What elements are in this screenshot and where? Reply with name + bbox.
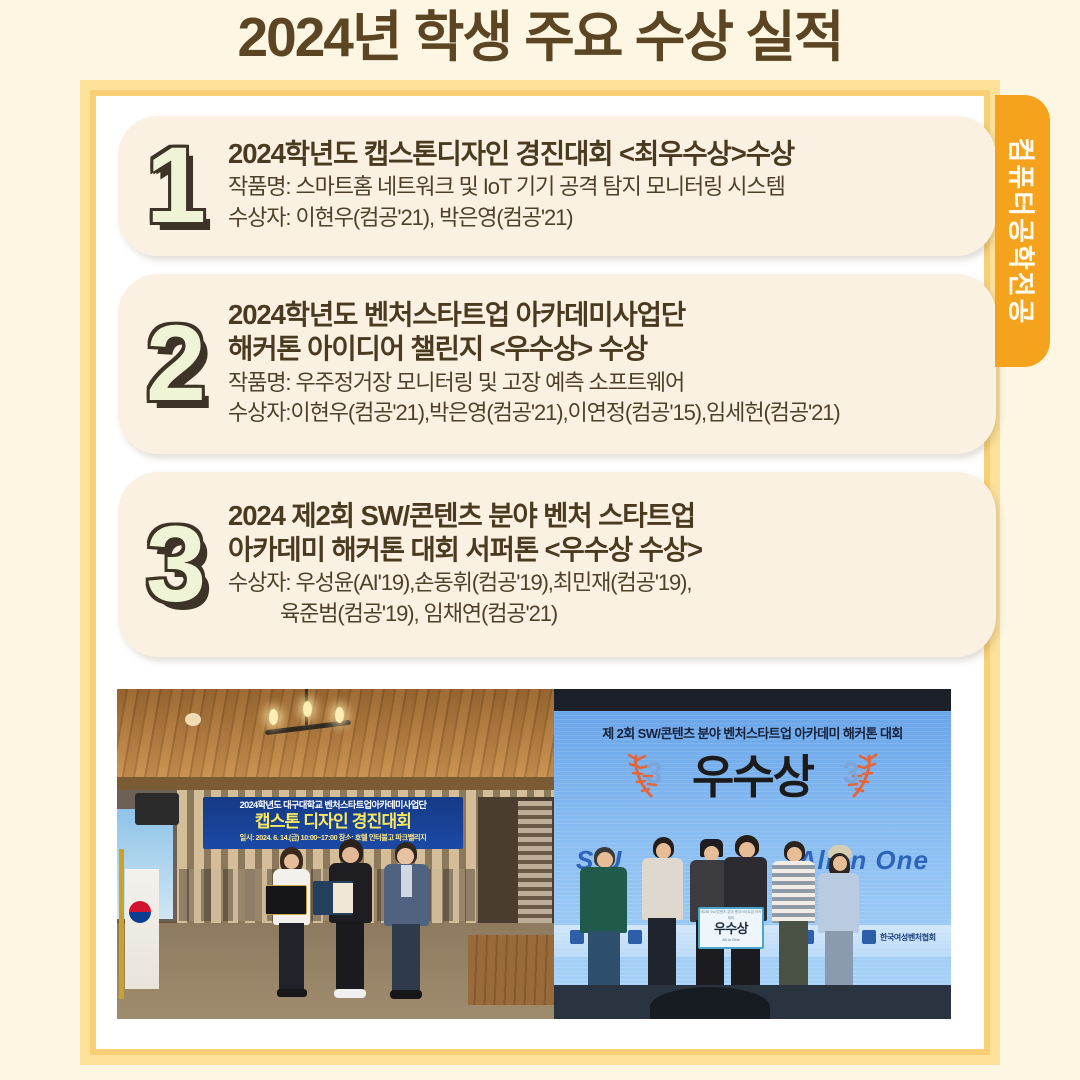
award-rank-number-2: 2 xyxy=(128,309,224,417)
award-heading-1-line-1: 2024학년도 캡스톤디자인 경진대회 <최우수상>수상 xyxy=(228,137,974,171)
person-torso xyxy=(818,873,859,933)
award-heading-3-line-1: 2024 제2회 SW/콘텐츠 분야 벤처 스타트업 xyxy=(228,499,974,533)
award-detail-2-line-2: 수상자:이현우(컴공'21),박은영(컴공'21),이연정(컴공'15),임세헌… xyxy=(228,399,974,428)
stage-person-6 xyxy=(816,845,862,995)
ceremony-banner-title: 캡스톤 디자인 경진대회 xyxy=(203,811,463,833)
person-legs xyxy=(825,931,853,993)
laurel-right-number: 3 xyxy=(823,757,879,791)
award-body-1: 2024학년도 캡스톤디자인 경진대회 <최우수상>수상 작품명: 스마트홈 네… xyxy=(224,137,974,232)
person-legs xyxy=(279,923,304,991)
poster-content-panel: 1 2024학년도 캡스톤디자인 경진대회 <최우수상>수상 작품명: 스마트홈… xyxy=(96,96,984,1049)
person-legs xyxy=(336,921,364,991)
award-card-2: 2 2024학년도 벤처스타트업 아카데미사업단 해커톤 아이디어 챌린지 <우… xyxy=(118,274,996,454)
photo-downlight xyxy=(185,713,201,726)
hackathon-award-row: 3 우수상 3 xyxy=(554,751,951,803)
certificate-paper xyxy=(333,883,353,913)
photo-ceiling-shading xyxy=(117,689,554,781)
photo-capstone-ceremony: 2024학년도 대구대학교 벤처스타트업아카데미사업단 캡스톤 디자인 경진대회… xyxy=(117,689,554,1019)
photo-korean-flag xyxy=(125,869,159,989)
chandelier-bulb xyxy=(269,709,278,725)
award-heading-2-line-1: 2024학년도 벤처스타트업 아카데미사업단 xyxy=(228,298,974,332)
award-certificate-board: 제2회 SW/콘텐츠 분야 벤처스타트업 아카데미 우수상 All in One xyxy=(698,907,764,949)
ceremony-banner-subtitle-top: 2024학년도 대구대학교 벤처스타트업아카데미사업단 xyxy=(203,799,463,811)
photo-wood-floor xyxy=(468,935,554,1005)
photo-ceiling-beam xyxy=(117,777,554,790)
laurel-left: 3 xyxy=(626,751,682,803)
award-detail-1-line-2: 수상자: 이현우(컴공'21), 박은영(컴공'21) xyxy=(228,204,974,233)
photo-strip: 2024학년도 대구대학교 벤처스타트업아카데미사업단 캡스톤 디자인 경진대회… xyxy=(117,689,951,1019)
person-face xyxy=(597,852,613,868)
laurel-left-number: 3 xyxy=(626,757,682,791)
board-team-name: All in One xyxy=(700,937,762,943)
page-title: 2024년 학생 주요 수상 실적 xyxy=(0,2,1080,72)
photo-flag-pole xyxy=(119,849,124,999)
award-detail-2-line-1: 작품명: 우주정거장 모니터링 및 고장 예측 소프트웨어 xyxy=(228,369,974,398)
chandelier-bulb xyxy=(335,707,344,723)
department-tab-label: 컴퓨터공학전공 xyxy=(1003,137,1042,325)
stage-person-2 xyxy=(640,837,686,995)
award-card-1: 1 2024학년도 캡스톤디자인 경진대회 <최우수상>수상 작품명: 스마트홈… xyxy=(118,116,996,256)
award-body-2: 2024학년도 벤처스타트업 아카데미사업단 해커톤 아이디어 챌린지 <우수상… xyxy=(224,298,974,427)
person-legs xyxy=(779,921,808,991)
photo-speaker xyxy=(135,793,179,825)
awards-list: 1 2024학년도 캡스톤디자인 경진대회 <최우수상>수상 작품명: 스마트홈… xyxy=(118,116,996,657)
photo-person-center xyxy=(325,841,375,1001)
person-legs xyxy=(588,931,620,993)
stage-person-1 xyxy=(578,847,630,997)
award-detail-1-line-1: 작품명: 스마트홈 네트워크 및 IoT 기기 공격 탐지 모니터링 시스템 xyxy=(228,173,974,202)
person-legs xyxy=(648,918,676,990)
person-torso xyxy=(772,861,815,923)
poster-frame: 1 2024학년도 캡스톤디자인 경진대회 <최우수상>수상 작품명: 스마트홈… xyxy=(80,80,1000,1065)
stage-person-5 xyxy=(770,841,818,995)
award-plaque xyxy=(265,885,307,915)
person-torso xyxy=(580,867,627,933)
board-top-text: 제2회 SW/콘텐츠 분야 벤처스타트업 아카데미 xyxy=(700,909,762,921)
award-rank-number-3: 3 xyxy=(128,510,224,618)
person-legs xyxy=(392,924,420,993)
foreground-audience-head xyxy=(650,987,770,1019)
hackathon-award-label: 우수상 xyxy=(692,754,813,800)
person-face xyxy=(342,847,359,863)
photo-person-right xyxy=(381,843,431,1001)
person-shoes xyxy=(390,990,422,999)
award-heading-3-line-2: 아카데미 해커톤 대회 서퍼톤 <우수상 수상> xyxy=(228,533,974,567)
person-face xyxy=(787,847,802,862)
person-face xyxy=(284,854,299,869)
award-rank-number-1: 1 xyxy=(128,131,224,239)
laurel-right: 3 xyxy=(823,751,879,803)
award-heading-2-line-2: 해커톤 아이디어 챌린지 <우수상> 수상 xyxy=(228,332,974,366)
chandelier-bulb xyxy=(303,701,312,717)
award-detail-3-line-1: 수상자: 우성윤(AI'19),손동휘(컴공'19),최민재(컴공'19), xyxy=(228,569,974,598)
hackathon-screen-title: 제 2회 SW/콘텐츠 분야 벤처스타트업 아카데미 해커톤 대회 xyxy=(554,723,951,742)
award-body-3: 2024 제2회 SW/콘텐츠 분야 벤처 스타트업 아카데미 해커톤 대회 서… xyxy=(224,499,974,628)
person-shirt xyxy=(401,865,412,897)
person-face xyxy=(704,846,719,861)
person-face xyxy=(656,843,671,859)
sponsor-logo-mark xyxy=(862,930,876,944)
photo-hackathon-stage: 제 2회 SW/콘텐츠 분야 벤처스타트업 아카데미 해커톤 대회 3 우수상 xyxy=(554,689,951,1019)
person-face xyxy=(397,848,414,865)
person-torso xyxy=(642,858,683,920)
sponsor-name: 한국여성벤처협회 xyxy=(880,932,936,943)
person-face xyxy=(833,856,847,871)
person-face xyxy=(739,842,755,858)
poster-frame-accent-line: 1 2024학년도 캡스톤디자인 경진대회 <최우수상>수상 작품명: 스마트홈… xyxy=(90,90,990,1055)
award-card-3: 3 2024 제2회 SW/콘텐츠 분야 벤처 스타트업 아카데미 해커톤 대회… xyxy=(118,472,996,657)
award-detail-3-line-2: 육준범(컴공'19), 임채연(컴공'21) xyxy=(228,600,974,629)
photo-flag-taegeuk xyxy=(129,901,151,923)
department-tab: 컴퓨터공학전공 xyxy=(995,95,1050,367)
board-award-label: 우수상 xyxy=(700,921,762,937)
photo-person-left xyxy=(269,849,313,999)
person-shoes xyxy=(334,989,366,998)
person-shoes xyxy=(277,989,307,997)
